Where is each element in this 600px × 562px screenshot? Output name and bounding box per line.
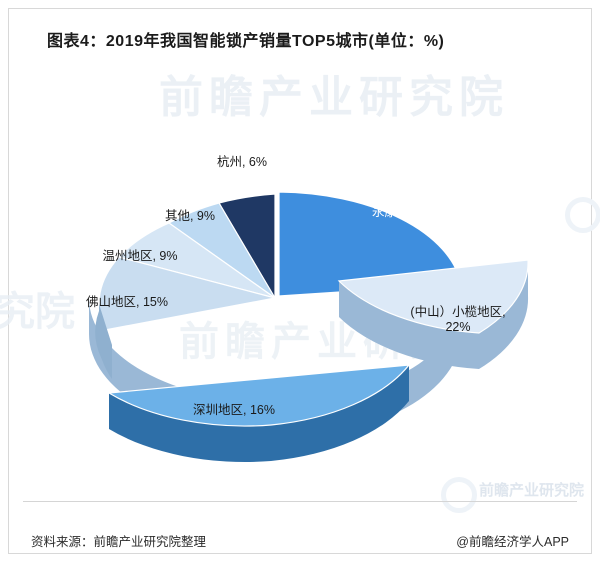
label-zhongshan-line2: 22% [393, 320, 523, 335]
label-wenzhou: 温州地区, 9% [75, 245, 205, 264]
label-yongkang: 永康地区, 23% [353, 201, 473, 220]
pie-chart-svg [9, 49, 593, 499]
page-title: 图表4：2019年我国智能锁产销量TOP5城市(单位：%) [47, 27, 444, 51]
label-shenzhen: 深圳地区, 16% [164, 399, 304, 418]
footer-divider [23, 501, 577, 502]
label-other: 其他, 9% [135, 205, 245, 224]
label-foshan: 佛山地区, 15% [57, 291, 197, 310]
label-hangzhou: 杭州, 6% [187, 151, 297, 170]
chart-frame: 图表4：2019年我国智能锁产销量TOP5城市(单位：%) 前瞻产业研究院 前瞻… [8, 8, 592, 554]
pie-chart [9, 49, 593, 499]
source-text: 资料来源：前瞻产业研究院整理 [31, 531, 206, 550]
brand-text: @前瞻经济学人APP [456, 531, 569, 550]
label-zhongshan-line1: (中山）小榄地区, [393, 305, 523, 320]
